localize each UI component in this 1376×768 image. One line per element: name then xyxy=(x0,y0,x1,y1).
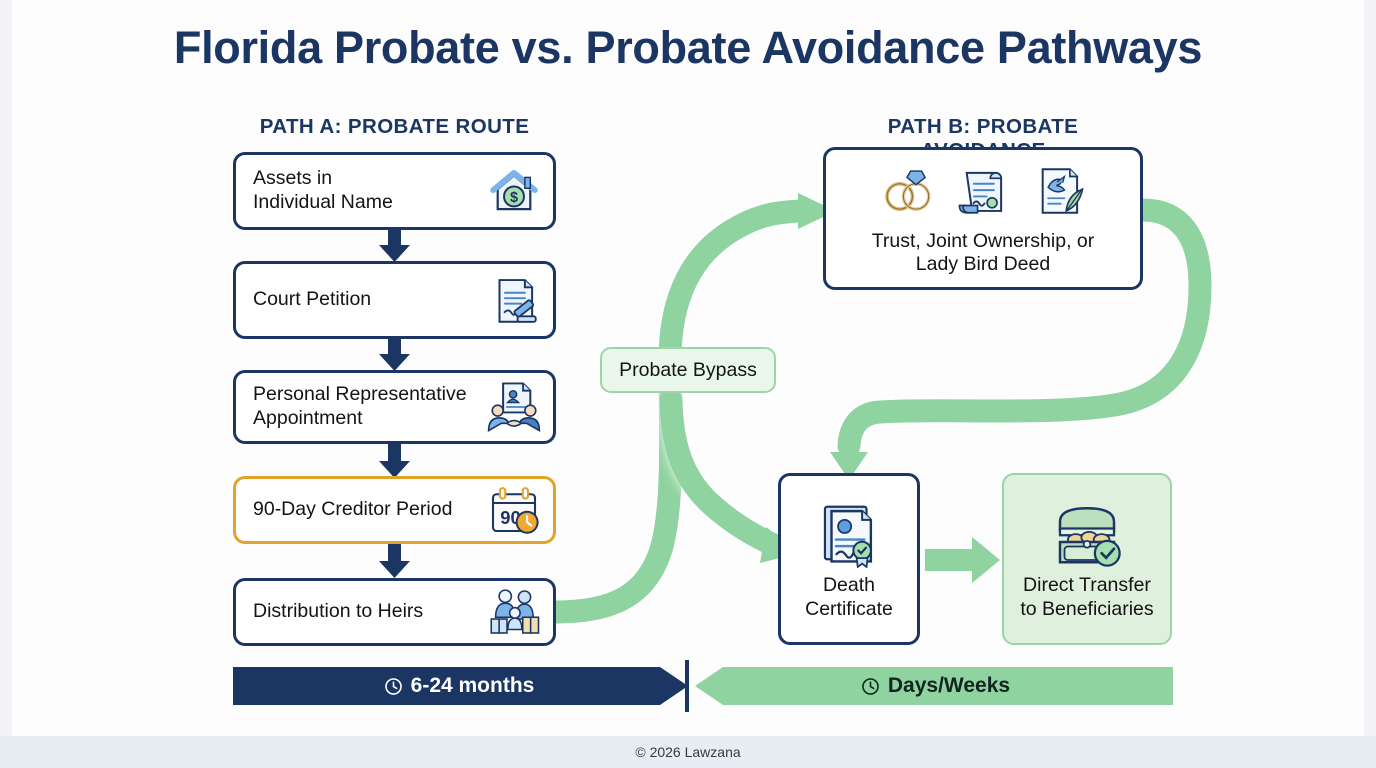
timeline-avoidance-label: Days/Weeks xyxy=(698,667,1173,705)
path-b-instruments-box[interactable]: Trust, Joint Ownership, orLady Bird Deed xyxy=(823,147,1143,290)
step-label: Distribution to Heirs xyxy=(236,600,483,624)
copyright-text: © 2026 Lawzana xyxy=(635,744,740,760)
right-edge-strip xyxy=(1364,0,1376,736)
card-label: Direct Transferto Beneficiaries xyxy=(1020,574,1153,622)
document-gavel-icon xyxy=(483,269,545,331)
clock-icon xyxy=(384,677,403,696)
wedding-rings-icon xyxy=(878,162,936,225)
left-edge-strip xyxy=(0,0,12,736)
footer-bar: © 2026 Lawzana xyxy=(0,736,1376,768)
path-a-header: PATH A: PROBATE ROUTE xyxy=(233,115,556,139)
timeline-avoidance-text: Days/Weeks xyxy=(888,674,1010,698)
path-b-instruments-label: Trust, Joint Ownership, orLady Bird Deed xyxy=(872,230,1095,277)
card-death-certificate[interactable]: DeathCertificate xyxy=(778,473,920,645)
handshake-document-icon xyxy=(483,376,545,438)
card-label: DeathCertificate xyxy=(805,574,893,622)
probate-bypass-label[interactable]: Probate Bypass xyxy=(600,347,776,393)
timeline-divider xyxy=(685,660,689,712)
timeline-probate-label: 6-24 months xyxy=(233,667,685,705)
svg-text:$: $ xyxy=(510,190,518,206)
treasure-chest-check-icon xyxy=(1050,496,1124,570)
scroll-will-icon xyxy=(954,162,1012,225)
death-to-direct-transfer-arrow xyxy=(925,537,1000,583)
step-label: Court Petition xyxy=(236,288,483,312)
step-90-day-creditor-period[interactable]: 90-Day Creditor Period 90 xyxy=(233,476,556,544)
step-label: 90-Day Creditor Period xyxy=(236,498,483,522)
step-personal-representative-appointment[interactable]: Personal RepresentativeAppointment xyxy=(233,370,556,444)
instrument-icon-row xyxy=(878,162,1088,224)
timeline-probate-text: 6-24 months xyxy=(411,674,535,698)
step-label: Assets inIndividual Name xyxy=(236,167,483,215)
death-certificate-icon xyxy=(812,496,886,570)
page-title: Florida Probate vs. Probate Avoidance Pa… xyxy=(0,22,1376,74)
step-label: Personal RepresentativeAppointment xyxy=(236,383,483,431)
step-court-petition[interactable]: Court Petition xyxy=(233,261,556,339)
house-with-dollar-icon: $ xyxy=(483,160,545,222)
dove-feather-deed-icon xyxy=(1030,162,1088,225)
infographic-canvas: Florida Probate vs. Probate Avoidance Pa… xyxy=(0,0,1376,768)
step-assets-in-individual-name[interactable]: Assets inIndividual Name $ xyxy=(233,152,556,230)
card-direct-transfer[interactable]: Direct Transferto Beneficiaries xyxy=(1002,473,1172,645)
calendar-90-clock-icon: 90 xyxy=(483,479,545,541)
family-gifts-icon xyxy=(483,581,545,643)
clock-icon xyxy=(861,677,880,696)
step-distribution-to-heirs[interactable]: Distribution to Heirs xyxy=(233,578,556,646)
